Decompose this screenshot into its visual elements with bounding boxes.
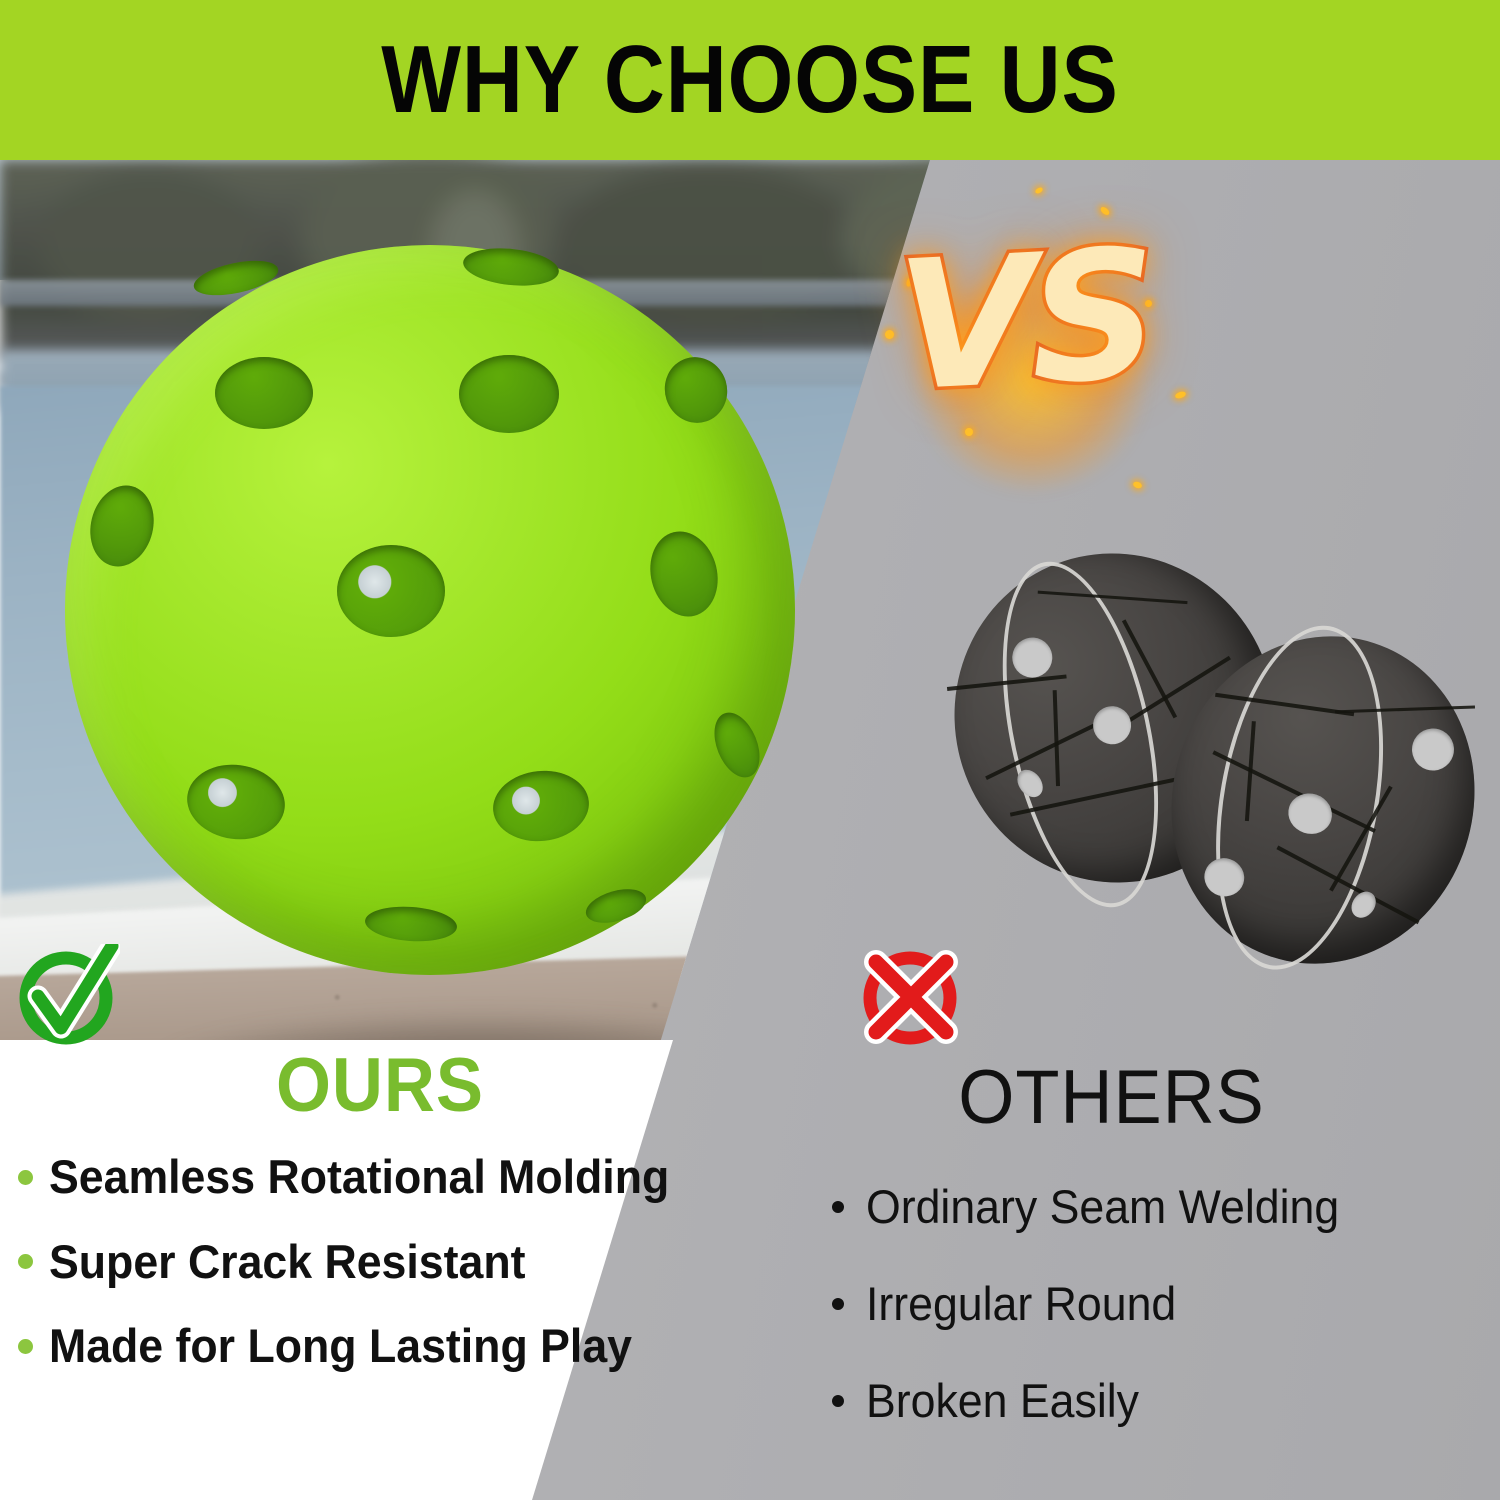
others-feature-label: Broken Easily (866, 1376, 1139, 1425)
ball-hole (337, 545, 445, 637)
ours-column: OURS Seamless Rotational Molding Super C… (0, 1046, 760, 1406)
ball-hole (364, 904, 458, 944)
bullet-dot-icon (832, 1201, 844, 1213)
bullet-dot-icon (832, 1298, 844, 1310)
ball-hole (82, 479, 162, 574)
ball-hole (642, 524, 727, 623)
list-item: Ordinary Seam Welding (832, 1182, 1490, 1231)
others-feature-list: Ordinary Seam Welding Irregular Round Br… (832, 1182, 1490, 1426)
x-circle-icon (858, 944, 962, 1048)
page-title: WHY CHOOSE US (381, 32, 1118, 128)
others-feature-label: Ordinary Seam Welding (866, 1182, 1339, 1231)
ball-hole (182, 759, 289, 846)
bullet-dot-icon (18, 1254, 33, 1269)
why-choose-us-comparison-graphic: WHY CHOOSE US (0, 0, 1500, 1500)
broken-balls-illustration (955, 545, 1465, 985)
ours-feature-list: Seamless Rotational Molding Super Crack … (0, 1152, 760, 1372)
list-item: Broken Easily (832, 1376, 1490, 1425)
ours-feature-label: Seamless Rotational Molding (49, 1152, 669, 1203)
check-circle-icon (16, 944, 120, 1048)
ours-feature-label: Super Crack Resistant (49, 1237, 525, 1288)
spark-particle (965, 428, 973, 436)
bullet-dot-icon (18, 1339, 33, 1354)
ball-hole (490, 766, 593, 846)
ours-feature-label: Made for Long Lasting Play (49, 1321, 632, 1372)
ball-hole (215, 357, 313, 429)
ball-hole (459, 355, 559, 433)
vs-label: VS (841, 223, 1210, 420)
bullet-dot-icon (18, 1170, 33, 1185)
others-feature-label: Irregular Round (866, 1279, 1176, 1328)
ours-heading: OURS (27, 1046, 734, 1126)
list-item: Seamless Rotational Molding (0, 1152, 760, 1203)
header-banner: WHY CHOOSE US (0, 0, 1500, 160)
list-item: Super Crack Resistant (0, 1237, 760, 1288)
list-item: Irregular Round (832, 1279, 1490, 1328)
vs-badge: VS (845, 180, 1205, 580)
others-column: OTHERS Ordinary Seam Welding Irregular R… (790, 1058, 1490, 1474)
list-item: Made for Long Lasting Play (0, 1321, 760, 1372)
bullet-dot-icon (832, 1395, 844, 1407)
green-pickleball (65, 245, 795, 975)
others-heading: OTHERS (808, 1058, 1473, 1138)
